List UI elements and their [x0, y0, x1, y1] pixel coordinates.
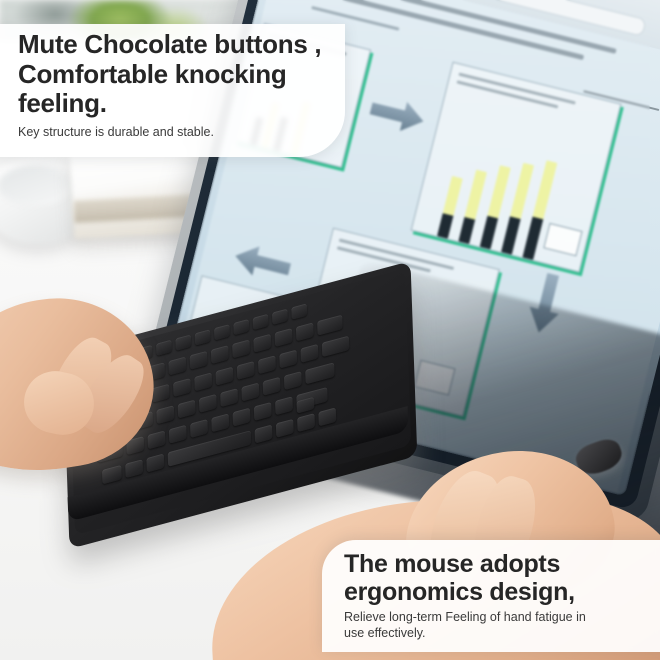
key — [152, 384, 170, 403]
key-arrow-left — [276, 419, 294, 438]
key — [241, 382, 259, 401]
key — [291, 303, 307, 319]
callout-top-headline: Mute Chocolate buttons , Comfortable kno… — [18, 30, 345, 119]
key — [214, 324, 230, 340]
key-ctrl — [102, 465, 122, 485]
key-alt-right — [255, 424, 273, 443]
key — [275, 396, 293, 415]
mug-rim — [0, 166, 72, 206]
callout-top-subline: Key structure is durable and stable. — [18, 124, 345, 140]
key-fn — [125, 459, 143, 478]
key — [237, 361, 255, 380]
key-arrow-down — [297, 413, 315, 432]
callout-panel-mouse: The mouse adopts ergonomics design, Reli… — [322, 540, 660, 652]
key — [148, 430, 166, 449]
key — [168, 356, 186, 375]
key — [194, 372, 212, 391]
key — [258, 355, 276, 374]
key — [232, 339, 250, 358]
key — [296, 322, 314, 341]
key — [279, 350, 297, 369]
key — [199, 394, 217, 413]
key — [253, 334, 271, 353]
key — [253, 314, 269, 330]
key — [263, 377, 281, 396]
key — [175, 334, 191, 350]
key — [254, 402, 272, 421]
key — [178, 400, 196, 419]
key — [211, 413, 229, 432]
key — [284, 371, 302, 390]
key — [216, 367, 234, 386]
key — [220, 388, 238, 407]
product-marketing-image: Mute Chocolate buttons , Comfortable kno… — [0, 0, 660, 660]
key-alt — [146, 453, 164, 472]
key — [211, 345, 229, 364]
key — [169, 425, 187, 444]
key-arrow-right — [318, 407, 336, 426]
key — [195, 329, 211, 345]
key — [322, 336, 350, 358]
callout-bottom-headline: The mouse adopts ergonomics design, — [344, 550, 660, 606]
callout-panel-keyboard: Mute Chocolate buttons , Comfortable kno… — [0, 24, 345, 157]
key — [272, 309, 288, 325]
key — [190, 419, 208, 438]
key — [305, 362, 334, 384]
key — [156, 405, 174, 424]
key — [173, 378, 191, 397]
key — [275, 328, 293, 347]
key — [190, 351, 208, 370]
key — [317, 315, 343, 336]
callout-bottom-subline: Relieve long-term Feeling of hand fatigu… — [344, 609, 660, 641]
key — [233, 319, 249, 335]
key — [156, 340, 172, 356]
key — [301, 344, 319, 363]
key — [233, 408, 251, 427]
